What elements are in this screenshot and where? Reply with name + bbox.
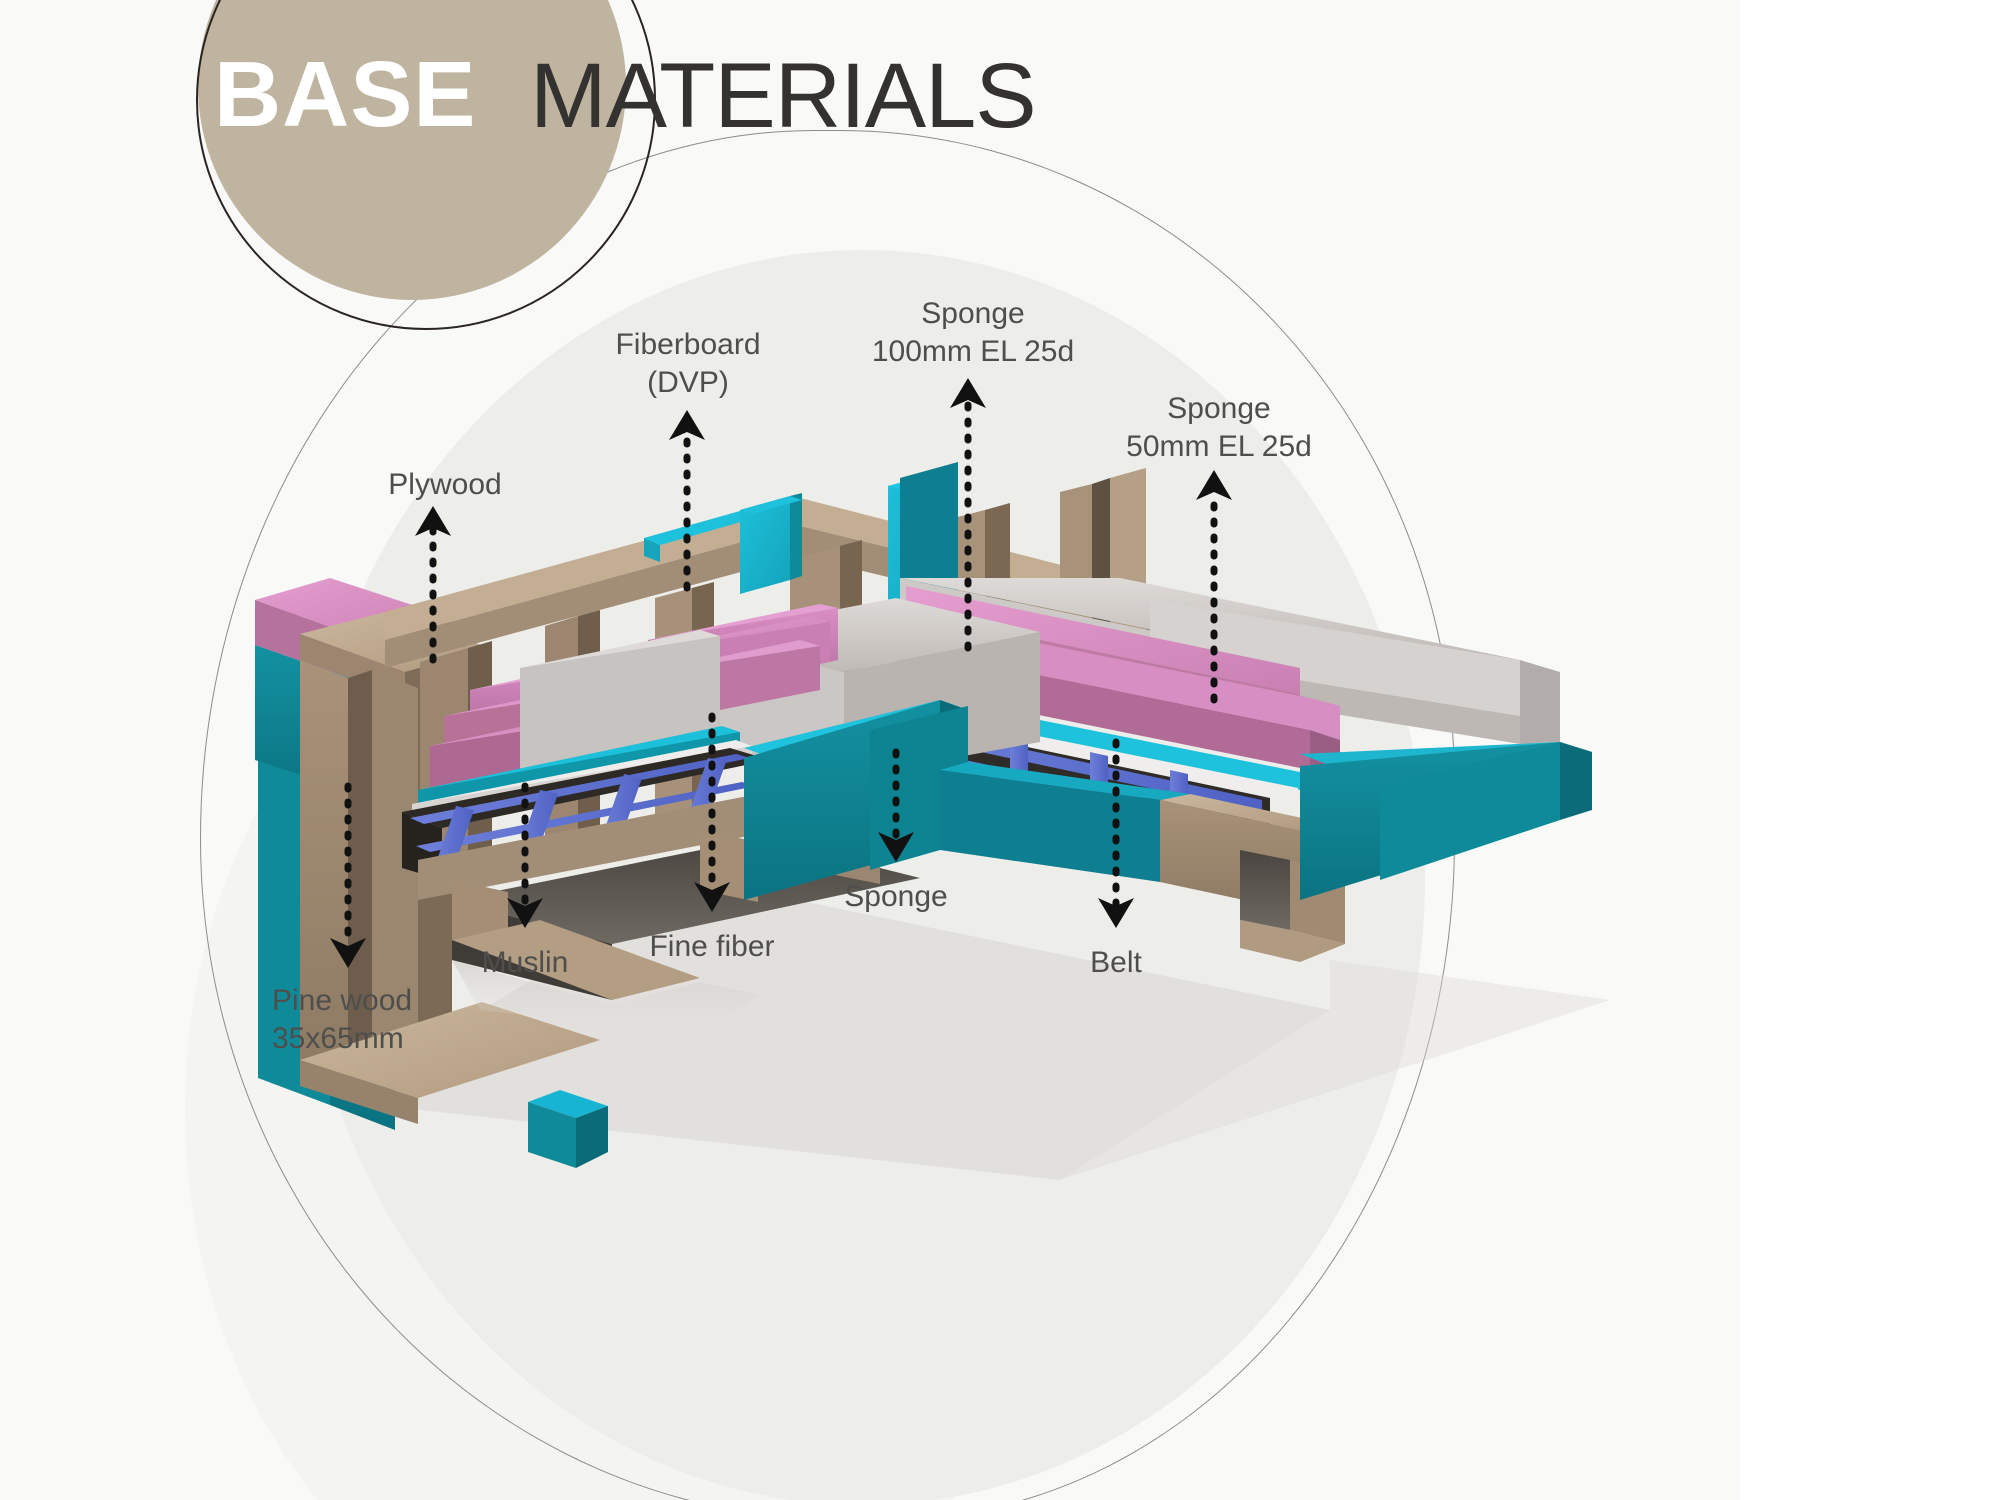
callout-label-plywood: Plywood: [375, 466, 515, 504]
callout-label-fine-fiber: Fine fiber: [612, 928, 812, 966]
callout-label-sponge-100: Sponge 100mm EL 25d: [828, 295, 1118, 372]
callout-label-belt: Belt: [1046, 944, 1186, 982]
infographic-canvas: BASE MATERIALS Plywood Fiberboard (DVP) …: [0, 0, 2000, 1500]
callout-label-sponge: Sponge: [806, 878, 986, 916]
arrow-head-pine-wood: [330, 938, 366, 968]
arrow-head-sponge-50: [1196, 470, 1232, 500]
callout-label-muslin: Muslin: [440, 944, 610, 982]
callout-label-sponge-50: Sponge 50mm EL 25d: [1074, 390, 1364, 467]
arrow-head-fine-fiber: [694, 882, 730, 912]
arrow-head-fiberboard: [669, 410, 705, 440]
callout-label-fiberboard: Fiberboard (DVP): [578, 326, 798, 403]
callout-label-pine-wood: Pine wood 35x65mm: [272, 982, 532, 1059]
page-title: MATERIALS: [530, 50, 1036, 142]
